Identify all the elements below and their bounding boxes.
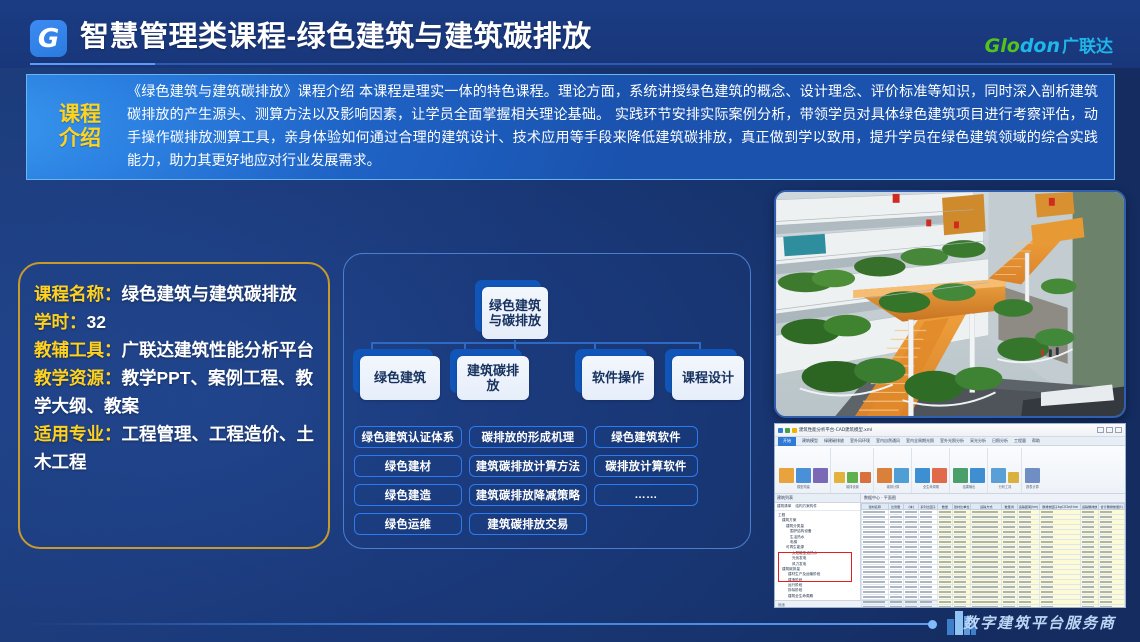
brand-text-don: don <box>1020 35 1060 57</box>
ribbon-group-0-label: 模型构建 <box>797 484 810 489</box>
table-col-5: 建材比单位 <box>953 504 971 510</box>
table-cell <box>903 560 918 565</box>
table-cell <box>1002 560 1017 565</box>
param-icon[interactable] <box>860 472 871 483</box>
slide-header: G 智慧管理类课程-绿色建筑与建筑碳排放 Glodon广联达 <box>0 0 1140 68</box>
diagram-node-branch-0[interactable]: 绿色建筑 <box>360 356 440 400</box>
ribbon-tab-7[interactable]: 采光分析 <box>970 438 986 444</box>
table-cell <box>937 545 952 550</box>
ribbon-tab-2[interactable]: 绿建碳排放 <box>824 438 844 444</box>
table-cell <box>971 515 1002 520</box>
tree-tab-1[interactable]: 结构方案构件 <box>795 504 817 509</box>
table-cell <box>1002 530 1017 535</box>
table-cell <box>937 595 952 600</box>
table-cell <box>888 575 903 580</box>
table-cell <box>937 560 952 565</box>
diagram-node-branch-1[interactable]: 建筑碳排放 <box>457 356 529 400</box>
table-cell <box>1002 535 1017 540</box>
table-cell <box>862 570 889 575</box>
brand-logo: Glodon广联达 <box>985 32 1113 57</box>
check-icon[interactable] <box>847 472 858 483</box>
table-cell <box>937 550 952 555</box>
ribbon-tab-3[interactable]: 室外风环境 <box>850 438 870 444</box>
table-row[interactable] <box>862 595 1125 600</box>
report-icon[interactable] <box>932 468 947 483</box>
ribbon-group-4-icons <box>953 449 985 483</box>
table-cell <box>888 560 903 565</box>
table-cell <box>903 530 918 535</box>
software-screenshot: 建筑性能分析平台-CAD建筑模型.xml 开始 建筑模型 绿建碳排放 室外风环境… <box>774 423 1126 608</box>
table-col-3: 系列比因子 <box>919 504 937 510</box>
info-key-1: 学时： <box>34 312 87 332</box>
table-cell <box>888 555 903 560</box>
diagram-leaf-2-1-label: 碳排放计算软件 <box>605 458 686 474</box>
import-icon[interactable] <box>796 468 811 483</box>
table-cell <box>903 555 918 560</box>
software-ribbon: 模型构建 碳排设置 碳排计算 <box>775 446 1125 494</box>
table-row[interactable] <box>862 570 1125 575</box>
table-cell <box>862 555 889 560</box>
table-cell <box>903 550 918 555</box>
diagram-leaf-0-0-label: 绿色建筑认证体系 <box>362 429 455 445</box>
table-cell <box>862 590 889 595</box>
table-cell <box>971 580 1002 585</box>
table-cell <box>937 580 952 585</box>
maximize-button[interactable] <box>1106 427 1113 433</box>
diagram-leaf-0-2-label: 绿色建造 <box>385 487 431 503</box>
table-row[interactable] <box>862 535 1125 540</box>
ribbon-group-3-icons <box>915 449 947 483</box>
table-cell <box>937 575 952 580</box>
ribbon-tab-4[interactable]: 室内自然通风 <box>876 438 900 444</box>
table-cell <box>903 590 918 595</box>
table-cell <box>903 545 918 550</box>
table-cell <box>903 580 918 585</box>
table-cell <box>937 585 952 590</box>
table-cell <box>1002 540 1017 545</box>
grid-breadcrumb: 数据中心 · 平面图 <box>861 494 1125 503</box>
table-cell <box>971 540 1002 545</box>
tree-panel-tabs: 建筑清单 结构方案构件 <box>775 503 860 511</box>
table-cell <box>862 540 889 545</box>
diagram-leaf-1-3-label: 建筑碳排放交易 <box>487 516 568 532</box>
info-value-2: 广联达建筑性能分析平台 <box>122 340 315 360</box>
table-row[interactable] <box>862 515 1125 520</box>
table-cell <box>903 575 918 580</box>
ribbon-tab-9[interactable]: 工程量 <box>1014 438 1026 444</box>
ribbon-tab-8[interactable]: 日照分析 <box>992 438 1008 444</box>
table-row[interactable] <box>862 590 1125 595</box>
diagram-leaf-0-3-label: 绿色运维 <box>385 516 431 532</box>
glodon-logo-icon: G <box>30 20 67 57</box>
table-cell <box>888 595 903 600</box>
diagram-leaf-1-3[interactable]: 建筑碳排放交易 <box>469 513 587 535</box>
course-intro-box: 课程 介绍 《绿色建筑与建筑碳排放》课程介绍 本课程是理实一体的特色课程。理论方… <box>26 74 1115 180</box>
table-cell <box>888 570 903 575</box>
table-cell <box>1002 525 1017 530</box>
table-row[interactable] <box>862 555 1125 560</box>
table-cell <box>903 510 918 515</box>
ribbon-group-6-label: 报表计算 <box>1026 484 1039 489</box>
table-row[interactable] <box>862 565 1125 570</box>
analysis-icon[interactable] <box>991 468 1006 483</box>
table-cell <box>862 510 889 515</box>
software-grid-panel: 数据中心 · 平面图 建材名称 比例量 (本) 系列比因子 数量 建材比单位 运… <box>861 494 1125 600</box>
table-cell <box>1002 600 1017 605</box>
table-cell <box>1002 575 1017 580</box>
table-row[interactable] <box>862 525 1125 530</box>
table-cell <box>971 560 1002 565</box>
table-cell <box>862 585 889 590</box>
diagram-node-branch-3[interactable]: 课程设计 <box>672 356 744 400</box>
table-cell <box>888 540 903 545</box>
table-cell <box>903 570 918 575</box>
info-key-2: 教辅工具： <box>34 340 122 360</box>
diagram-leaf-0-1-label: 绿色建材 <box>385 458 431 474</box>
table-cell <box>862 560 889 565</box>
ribbon-group-0-icons <box>779 449 828 483</box>
table-col-8: 运输距离(km) <box>1017 504 1040 510</box>
app-icon <box>778 428 783 433</box>
ribbon-group-5: 分析工具 <box>989 448 1022 493</box>
table-cell <box>888 565 903 570</box>
table-row[interactable] <box>862 510 1125 515</box>
table-cell <box>888 520 903 525</box>
table-cell <box>862 580 889 585</box>
table-row[interactable] <box>862 530 1125 535</box>
table-col-10: 运输碳排放 <box>1081 504 1099 510</box>
tree-tab-0[interactable]: 建筑清单 <box>777 504 791 509</box>
connector-horizontal-bus <box>371 342 701 344</box>
ribbon-group-1: 碳排设置 <box>832 448 874 493</box>
diagram-leaf-0-3[interactable]: 绿色运维 <box>354 513 462 535</box>
diagram-node-branch-1-card: 建筑碳排放 <box>457 356 529 400</box>
table-cell <box>903 540 918 545</box>
info-value-0: 绿色建筑与建筑碳排放 <box>122 284 297 304</box>
page-title: 智慧管理类课程-绿色建筑与建筑碳排放 <box>80 13 592 55</box>
table-cell <box>1002 565 1017 570</box>
table-cell <box>888 535 903 540</box>
ribbon-group-5-label: 分析工具 <box>999 484 1012 489</box>
software-ribbon-tabs: 开始 建筑模型 绿建碳排放 室外风环境 室内自然通风 室内全周期光照 室外光照分… <box>775 437 1125 446</box>
layer-icon[interactable] <box>813 468 828 483</box>
ribbon-group-4-label: 结果输出 <box>963 484 976 489</box>
ribbon-group-3: 全生命周期 <box>913 448 950 493</box>
ribbon-group-1-label: 碳排设置 <box>846 484 859 489</box>
open-icon <box>792 428 797 433</box>
table-cell <box>888 550 903 555</box>
table-cell <box>971 525 1002 530</box>
ribbon-group-6-icons <box>1025 449 1040 483</box>
close-button[interactable] <box>1115 427 1122 433</box>
ribbon-tab-0[interactable]: 开始 <box>778 437 796 446</box>
course-info-panel: 课程名称：绿色建筑与建筑碳排放 学时：32 教辅工具：广联达建筑性能分析平台 教… <box>18 262 330 549</box>
table-icon[interactable] <box>894 468 909 483</box>
diagram-leaf-2-2-label: …… <box>634 489 657 501</box>
table-cell <box>971 570 1002 575</box>
footer-dot-icon <box>928 620 937 629</box>
table-cell <box>1002 515 1017 520</box>
course-intro-text: 《绿色建筑与建筑碳排放》课程介绍 本课程是理实一体的特色课程。理论方面，系统讲授… <box>119 81 1114 172</box>
header-divider-highlight <box>30 63 155 65</box>
table-cell <box>1002 545 1017 550</box>
diagram-node-root[interactable]: 绿色建筑与碳排放 <box>482 287 548 339</box>
table-cell <box>888 585 903 590</box>
diagram-leaf-1-2[interactable]: 建筑碳排放降减策略 <box>469 484 587 506</box>
software-body: 建筑列表 建筑清单 结构方案构件 工程 建筑方案 建筑分类量 围护结构设备 生活… <box>775 494 1125 600</box>
ribbon-group-1-icons <box>834 449 871 483</box>
status-left-text: 就绪 <box>778 602 785 607</box>
diagram-node-branch-0-card: 绿色建筑 <box>360 356 440 400</box>
settings-icon[interactable] <box>834 472 845 483</box>
table-cell <box>888 580 903 585</box>
table-cell <box>862 595 889 600</box>
diagram-node-root-label: 绿色建筑与碳排放 <box>486 298 544 329</box>
table-cell <box>971 595 1002 600</box>
table-cell <box>1002 585 1017 590</box>
table-cell <box>903 525 918 530</box>
tree-highlight-box <box>778 552 852 582</box>
diagram-node-branch-1-label: 建筑碳排放 <box>461 363 525 394</box>
table-cell <box>862 535 889 540</box>
table-cell <box>1002 550 1017 555</box>
export-icon[interactable] <box>970 468 985 483</box>
table-cell <box>971 510 1002 515</box>
table-cell <box>1002 595 1017 600</box>
table-cell <box>1002 590 1017 595</box>
footer-divider <box>26 623 930 625</box>
table-cell <box>862 575 889 580</box>
diagram-node-branch-0-label: 绿色建筑 <box>374 370 426 385</box>
table-cell <box>937 540 952 545</box>
table-row[interactable] <box>862 600 1125 605</box>
slide-root: G 智慧管理类课程-绿色建筑与建筑碳排放 Glodon广联达 课程 介绍 《绿色… <box>0 0 1140 642</box>
software-titlebar: 建筑性能分析平台-CAD建筑模型.xml <box>775 424 1125 437</box>
info-row-2: 教辅工具：广联达建筑性能分析平台 <box>34 336 314 364</box>
table-body <box>862 510 1125 609</box>
info-row-3: 教学资源：教学PPT、案例工程、教学大纲、教案 <box>34 364 314 420</box>
table-cell <box>903 520 918 525</box>
brand-text-cn: 广联达 <box>1062 37 1113 56</box>
info-row-0: 课程名称：绿色建筑与建筑碳排放 <box>34 280 314 308</box>
table-cell <box>888 600 903 605</box>
table-cell <box>937 600 952 605</box>
diagram-node-branch-3-card: 课程设计 <box>672 356 744 400</box>
table-row[interactable] <box>862 520 1125 525</box>
software-window-title: 建筑性能分析平台-CAD建筑模型.xml <box>799 427 872 433</box>
table-cell <box>971 565 1002 570</box>
tree-panel-header: 建筑列表 <box>775 494 860 503</box>
table-cell <box>971 550 1002 555</box>
diagram-leaf-2-2[interactable]: …… <box>594 484 698 506</box>
table-cell <box>903 565 918 570</box>
diagram-leaf-0-2[interactable]: 绿色建造 <box>354 484 462 506</box>
brand-text-glo: Glo <box>985 35 1020 57</box>
ribbon-group-2: 碳排计算 <box>875 448 912 493</box>
table-row[interactable] <box>862 575 1125 580</box>
table-cell <box>862 515 889 520</box>
table-cell <box>937 530 952 535</box>
calc-icon[interactable] <box>877 468 892 483</box>
diagram-leaf-2-0[interactable]: 绿色建筑软件 <box>594 426 698 448</box>
table-cell <box>937 515 952 520</box>
diagram-node-branch-2-card: 软件操作 <box>582 356 654 400</box>
info-row-1: 学时：32 <box>34 308 314 336</box>
table-cell <box>888 545 903 550</box>
table-cell <box>937 510 952 515</box>
diagram-leaf-1-0-label: 碳排放的形成机理 <box>482 429 575 445</box>
ribbon-tab-1[interactable]: 建筑模型 <box>802 438 818 444</box>
diagram-node-branch-3-label: 课程设计 <box>682 370 734 385</box>
table-row[interactable] <box>862 550 1125 555</box>
table-col-9: 碳排放因子kgCO2e/t·km <box>1040 504 1081 510</box>
table-cell <box>888 510 903 515</box>
table-cell <box>971 555 1002 560</box>
table-cell <box>903 585 918 590</box>
green-building-photo-image <box>776 192 1124 416</box>
table-row[interactable] <box>862 585 1125 590</box>
table-cell <box>971 545 1002 550</box>
table-cell <box>862 525 889 530</box>
ribbon-tab-10[interactable]: 帮助 <box>1032 438 1040 444</box>
diagram-leaf-0-1[interactable]: 绿色建材 <box>354 455 462 477</box>
ribbon-group-0: 模型构建 <box>777 448 831 493</box>
table-cell <box>937 565 952 570</box>
table-cell <box>1002 570 1017 575</box>
green-building-photo <box>774 190 1126 418</box>
table-row[interactable] <box>862 540 1125 545</box>
table-cell <box>862 530 889 535</box>
table-cell <box>903 515 918 520</box>
tree-item-15[interactable]: 建筑全生命周期 <box>778 594 857 599</box>
table-cell <box>862 550 889 555</box>
table-cell <box>937 525 952 530</box>
save-icon <box>785 428 790 433</box>
table-cell <box>971 520 1002 525</box>
table-row[interactable] <box>862 580 1125 585</box>
table-cell <box>971 535 1002 540</box>
ribbon-group-5-icons <box>991 449 1019 483</box>
chart-icon[interactable] <box>953 468 968 483</box>
minimize-button[interactable] <box>1097 427 1104 433</box>
table-cell <box>971 585 1002 590</box>
course-intro-tag-line1: 课程 <box>41 103 119 127</box>
ribbon-group-6: 报表计算 <box>1023 448 1042 493</box>
table-cell <box>862 565 889 570</box>
table-cell <box>937 535 952 540</box>
footer-slogan: 数字建筑平台服务商 <box>963 612 1116 633</box>
table-cell <box>1002 510 1017 515</box>
diagram-node-branch-2-label: 软件操作 <box>592 370 644 385</box>
course-intro-tag: 课程 介绍 <box>41 103 119 150</box>
compute-icon[interactable] <box>1025 468 1040 483</box>
table-row[interactable] <box>862 560 1125 565</box>
table-cell <box>888 590 903 595</box>
table-cell <box>888 530 903 535</box>
ribbon-tab-5[interactable]: 室内全周期光照 <box>906 438 934 444</box>
tool-icon[interactable] <box>1008 472 1019 483</box>
diagram-node-branch-2[interactable]: 软件操作 <box>582 356 654 400</box>
table-cell <box>862 520 889 525</box>
info-row-4: 适用专业：工程管理、工程造价、土木工程 <box>34 420 314 476</box>
table-cell <box>903 535 918 540</box>
table-cell <box>937 520 952 525</box>
table-cell <box>1002 520 1017 525</box>
table-cell <box>937 590 952 595</box>
diagram-leaf-2-1[interactable]: 碳排放计算软件 <box>594 455 698 477</box>
lifecycle-icon[interactable] <box>915 468 930 483</box>
table-cell <box>971 590 1002 595</box>
table-cell <box>862 545 889 550</box>
table-cell <box>937 570 952 575</box>
table-cell <box>971 530 1002 535</box>
diagram-leaf-1-1-label: 建筑碳排放计算方法 <box>476 458 580 474</box>
diagram-leaf-1-2-label: 建筑碳排放降减策略 <box>476 487 580 503</box>
diagram-leaf-2-0-label: 绿色建筑软件 <box>611 429 681 445</box>
table-cell <box>888 525 903 530</box>
ribbon-group-2-icons <box>877 449 909 483</box>
ribbon-tab-6[interactable]: 室外光照分析 <box>940 438 964 444</box>
software-tree-panel: 建筑列表 建筑清单 结构方案构件 工程 建筑方案 建筑分类量 围护结构设备 生活… <box>775 494 861 600</box>
model-icon[interactable] <box>779 468 794 483</box>
table-cell <box>937 555 952 560</box>
info-value-1: 32 <box>87 312 106 332</box>
table-cell <box>888 515 903 520</box>
info-key-4: 适用专业： <box>34 424 122 444</box>
table-cell <box>903 600 918 605</box>
info-key-3: 教学资源： <box>34 368 122 388</box>
course-structure-diagram: 绿色建筑与碳排放 绿色建筑 建筑碳排放 软件操作 课程设计 <box>343 253 751 549</box>
header-divider <box>30 63 1112 65</box>
diagram-leaf-0-0[interactable]: 绿色建筑认证体系 <box>354 426 462 448</box>
table-cell <box>862 600 889 605</box>
ribbon-group-4: 结果输出 <box>951 448 988 493</box>
table-col-11: 合计碳排放量(t) <box>1099 504 1125 510</box>
material-table: 建材名称 比例量 (本) 系列比因子 数量 建材比单位 运输方式 数量(t) 运… <box>861 503 1125 608</box>
info-key-0: 课程名称： <box>34 284 122 304</box>
table-row[interactable] <box>862 545 1125 550</box>
diagram-leaf-1-0[interactable]: 碳排放的形成机理 <box>469 426 587 448</box>
diagram-node-root-card: 绿色建筑与碳排放 <box>482 287 548 339</box>
table-cell <box>903 595 918 600</box>
course-intro-tag-line2: 介绍 <box>41 127 119 151</box>
table-cell <box>971 575 1002 580</box>
table-cell <box>971 600 1002 605</box>
ribbon-group-2-label: 碳排计算 <box>887 484 900 489</box>
diagram-leaf-1-1[interactable]: 建筑碳排放计算方法 <box>469 455 587 477</box>
table-cell <box>1002 580 1017 585</box>
ribbon-group-3-label: 全生命周期 <box>923 484 939 489</box>
table-cell <box>1002 555 1017 560</box>
